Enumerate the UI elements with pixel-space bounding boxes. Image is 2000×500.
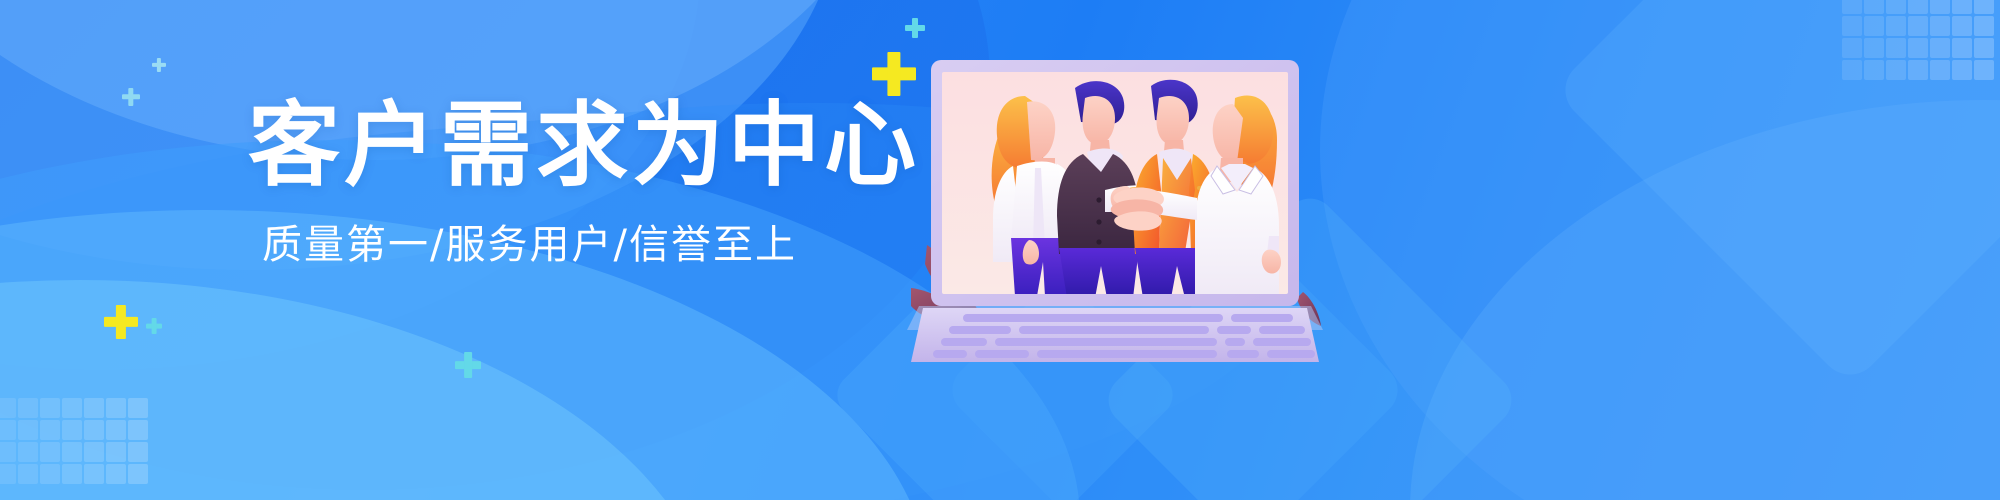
dot-grid-cell xyxy=(40,420,60,440)
dot-grid-cell xyxy=(1974,38,1994,58)
dot-grid-cell xyxy=(0,464,16,484)
dot-grid-cell xyxy=(128,442,148,462)
plus-cyan-bottom-mid-icon xyxy=(455,352,481,378)
dot-grid-cell xyxy=(1908,0,1928,14)
dot-grid-cell xyxy=(0,420,16,440)
dot-grid-cell xyxy=(1908,16,1928,36)
dot-grid-cell xyxy=(62,398,82,418)
dot-grid-cell xyxy=(128,464,148,484)
laptop-base xyxy=(907,306,1323,362)
dot-grid-cell xyxy=(1930,16,1950,36)
dot-grid-cell xyxy=(62,420,82,440)
dot-grid-cell xyxy=(62,442,82,462)
dot-grid-cell xyxy=(18,420,38,440)
dot-grid-cell xyxy=(1886,16,1906,36)
dot-grid-cell xyxy=(128,420,148,440)
dot-grid-cell xyxy=(1864,16,1884,36)
dot-grid-cell xyxy=(1864,60,1884,80)
dot-grid-cell xyxy=(0,442,16,462)
dot-grid-cell xyxy=(1842,16,1862,36)
dot-grid-cell xyxy=(1952,16,1972,36)
dot-grid-cell xyxy=(1930,0,1950,14)
dot-grid-cell xyxy=(1974,60,1994,80)
dot-grid-cell xyxy=(1908,60,1928,80)
laptop-team-illustration xyxy=(905,40,1325,370)
plus-cyan-mid-left-icon xyxy=(122,88,140,106)
dot-grid-cell xyxy=(62,464,82,484)
dot-grid-cell xyxy=(18,398,38,418)
dot-grid-cell xyxy=(40,442,60,462)
dot-grid-cell xyxy=(128,398,148,418)
dot-grid-cell xyxy=(1930,38,1950,58)
dot-grid-cell xyxy=(106,464,126,484)
dot-grid-cell xyxy=(1842,0,1862,14)
plus-cyan-bottom-left-icon xyxy=(146,318,162,334)
dot-grid-cell xyxy=(1842,38,1862,58)
dot-grid-cell xyxy=(18,464,38,484)
dot-grid-cell xyxy=(1908,38,1928,58)
dot-grid-cell xyxy=(106,442,126,462)
dot-grid-cell xyxy=(1974,0,1994,14)
chevron-corner xyxy=(1553,0,2000,387)
dot-grid-cell xyxy=(106,398,126,418)
dot-grid-cell xyxy=(1974,16,1994,36)
wave-right-soft-2 xyxy=(1410,100,2000,500)
dot-grid-cell xyxy=(1842,60,1862,80)
dot-grid-cell xyxy=(1930,60,1950,80)
wave-right-soft xyxy=(1320,0,2000,500)
dot-grid-cell xyxy=(84,398,104,418)
dot-grid-cell xyxy=(84,464,104,484)
dot-grid-top-right xyxy=(1842,0,1996,82)
dot-grid-bottom-left xyxy=(0,398,150,486)
dot-grid-cell xyxy=(0,398,16,418)
dot-grid-cell xyxy=(40,464,60,484)
dot-grid-cell xyxy=(18,442,38,462)
banner-headline: 客户需求为中心 xyxy=(248,96,908,195)
plus-cyan-small-top-icon xyxy=(905,18,925,38)
dot-grid-cell xyxy=(84,442,104,462)
dot-grid-cell xyxy=(1864,38,1884,58)
dot-grid-cell xyxy=(106,420,126,440)
dot-grid-cell xyxy=(1886,0,1906,14)
dot-grid-cell xyxy=(1886,60,1906,80)
dot-grid-cell xyxy=(1886,38,1906,58)
wave-bottom-3 xyxy=(0,280,720,500)
dot-grid-cell xyxy=(1952,60,1972,80)
dot-grid-cell xyxy=(1952,38,1972,58)
dot-grid-cell xyxy=(40,398,60,418)
promo-banner: 客户需求为中心 质量第一/服务用户/信誉至上 xyxy=(0,0,2000,500)
stacked-hands xyxy=(1111,188,1164,231)
dot-grid-cell xyxy=(1952,0,1972,14)
plus-yellow-bottom-left-icon xyxy=(104,305,138,339)
banner-subline: 质量第一/服务用户/信誉至上 xyxy=(262,221,908,269)
banner-text-block: 客户需求为中心 质量第一/服务用户/信誉至上 xyxy=(248,96,908,269)
plus-cyan-near-text-icon xyxy=(152,58,166,72)
dot-grid-cell xyxy=(84,420,104,440)
dot-grid-cell xyxy=(1864,0,1884,14)
